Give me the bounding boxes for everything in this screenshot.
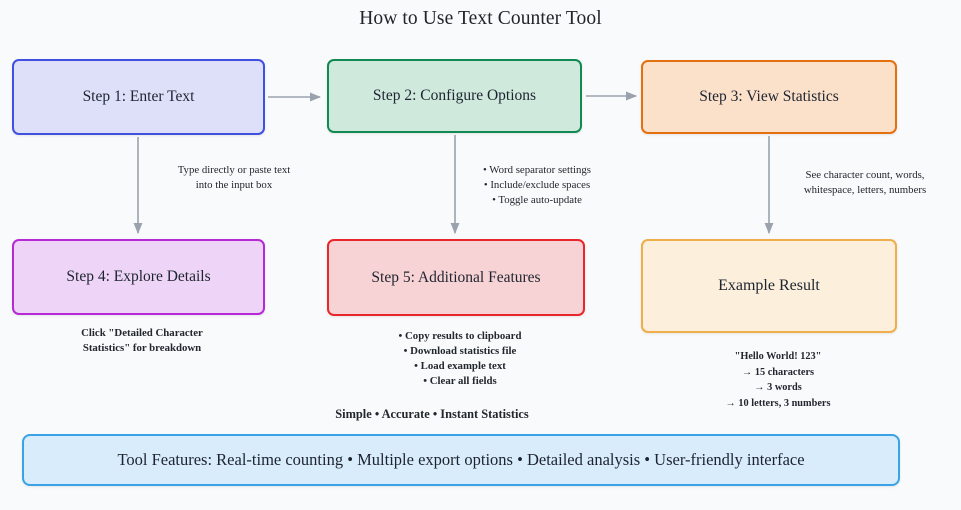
tool-features-banner: Tool Features: Real-time counting • Mult… <box>22 434 900 486</box>
edge-label-step2-step5: • Word separator settings • Include/excl… <box>452 163 622 208</box>
node-example-result[interactable]: Example Result <box>641 239 897 333</box>
note-step4-detail: Click "Detailed Character Statistics" fo… <box>54 326 230 356</box>
note-step5-detail: • Copy results to clipboard • Download s… <box>372 329 548 389</box>
node-step2-label: Step 2: Configure Options <box>373 87 536 105</box>
edge-label-step1-step4: Type directly or paste text into the inp… <box>146 163 322 193</box>
node-example-result-label: Example Result <box>718 277 820 295</box>
node-step5[interactable]: Step 5: Additional Features <box>327 239 585 316</box>
tagline: Simple • Accurate • Instant Statistics <box>296 407 568 422</box>
diagram-canvas: How to Use Text Counter Tool Step 1: Ent… <box>0 0 961 510</box>
tool-features-banner-label: Tool Features: Real-time counting • Mult… <box>117 450 804 470</box>
note-result-detail: "Hello World! 123" → 15 characters → 3 w… <box>678 349 878 411</box>
node-step4-label: Step 4: Explore Details <box>66 268 210 286</box>
node-step1-label: Step 1: Enter Text <box>83 88 195 106</box>
node-step1[interactable]: Step 1: Enter Text <box>12 59 265 135</box>
node-step3-label: Step 3: View Statistics <box>699 88 839 106</box>
node-step2[interactable]: Step 2: Configure Options <box>327 59 582 133</box>
node-step5-label: Step 5: Additional Features <box>371 269 540 287</box>
node-step4[interactable]: Step 4: Explore Details <box>12 239 265 315</box>
edge-label-step3-result: See character count, words, whitespace, … <box>774 168 956 198</box>
node-step3[interactable]: Step 3: View Statistics <box>641 60 897 134</box>
